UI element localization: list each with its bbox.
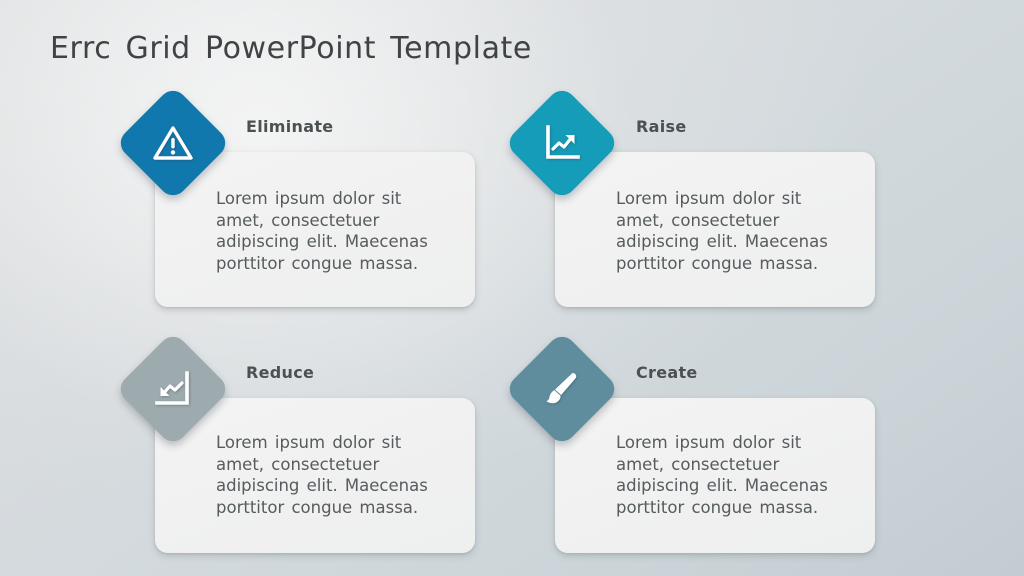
heading-reduce: Reduce [246, 363, 314, 382]
page-title: Errc Grid PowerPoint Template [50, 31, 532, 66]
chart-up-icon [539, 120, 585, 166]
card-body-create: Lorem ipsum dolor sit amet, consectetuer… [616, 432, 846, 518]
heading-raise: Raise [636, 117, 686, 136]
warning-triangle-icon [150, 120, 196, 166]
card-body-raise: Lorem ipsum dolor sit amet, consectetuer… [616, 188, 846, 274]
card-body-eliminate: Lorem ipsum dolor sit amet, consectetuer… [216, 188, 446, 274]
card-body-reduce: Lorem ipsum dolor sit amet, consectetuer… [216, 432, 446, 518]
chart-down-icon [150, 366, 196, 412]
heading-create: Create [636, 363, 698, 382]
heading-eliminate: Eliminate [246, 117, 333, 136]
slide-canvas: Errc Grid PowerPoint Template Lorem ipsu… [0, 0, 1024, 576]
paintbrush-icon [539, 366, 585, 412]
